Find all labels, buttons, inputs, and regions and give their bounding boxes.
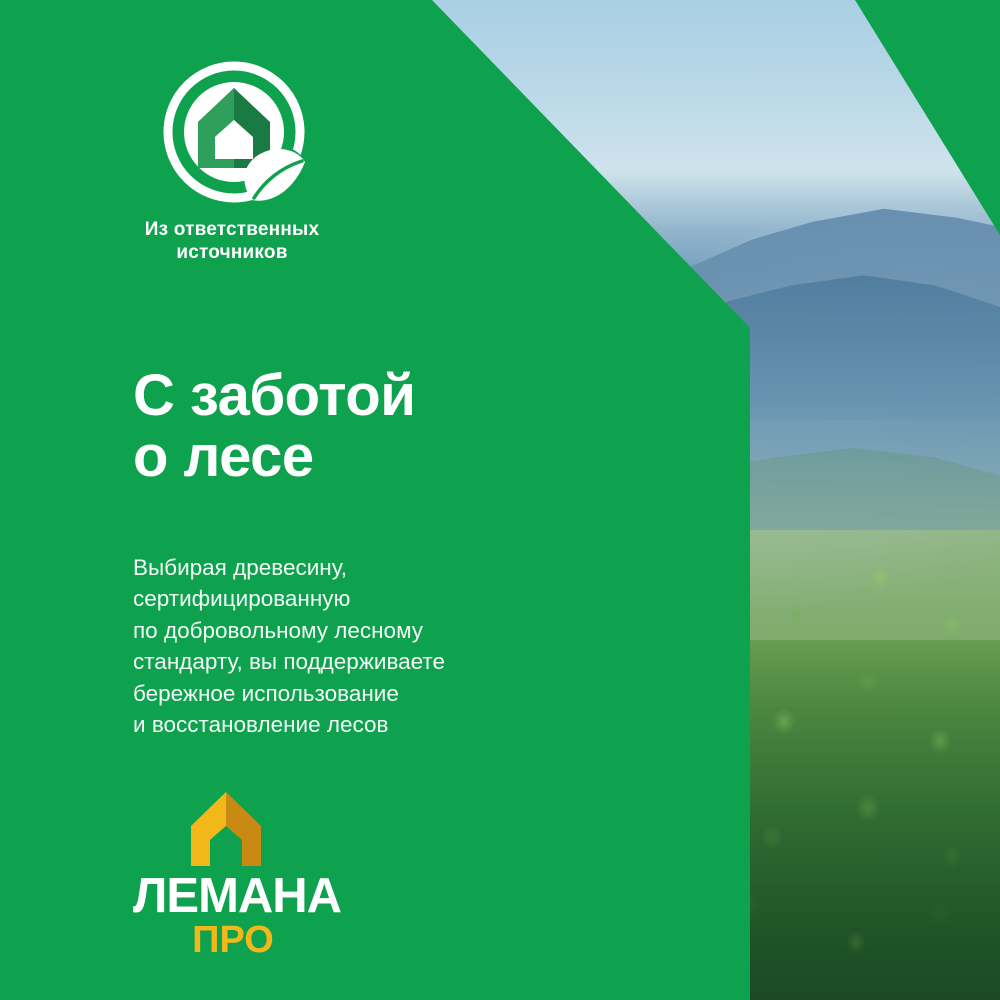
lemana-house-icon (189, 790, 263, 868)
body-copy: Выбирая древесину, сертифицированную по … (133, 552, 553, 741)
brand-lockup: ЛЕМАНА ПРО (133, 790, 333, 961)
brand-name: ЛЕМАНА (133, 872, 333, 921)
poster: Из ответственных источников С заботой о … (0, 0, 1000, 1000)
poster-content: Из ответственных источников С заботой о … (0, 0, 1000, 1000)
certification-logo: Из ответственных источников (132, 58, 422, 264)
responsible-sources-house-leaf-emblem (160, 58, 308, 206)
brand-sub: ПРО (133, 921, 333, 961)
certification-caption: Из ответственных источников (132, 218, 332, 264)
page-title: С заботой о лесе (133, 365, 415, 488)
